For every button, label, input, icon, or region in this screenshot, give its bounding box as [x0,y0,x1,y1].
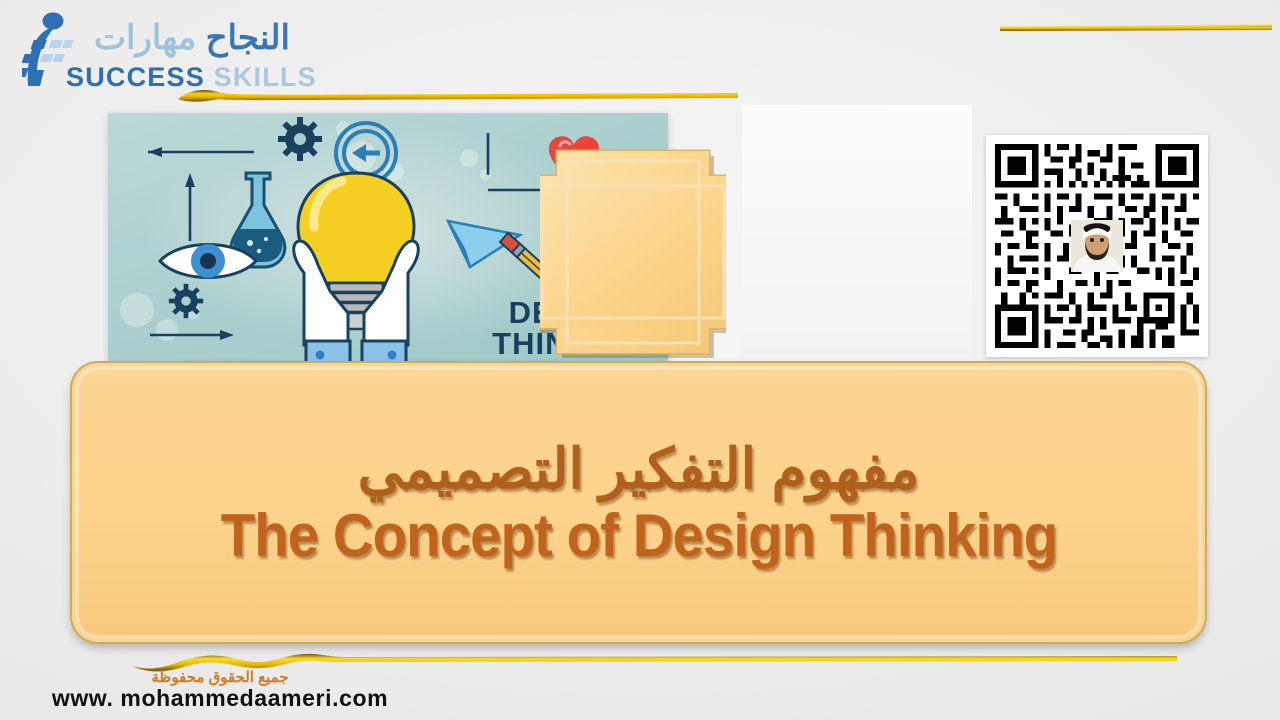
eight-point-star-badge [540,128,726,376]
gold-flourish-top-left-decoration [178,86,738,108]
title-arabic: مفهوم التفكير التصميمي [358,438,920,501]
title-english: The Concept of Design Thinking [220,504,1057,567]
logo-arabic-light: مهارات [94,19,196,57]
website-url[interactable]: www. mohammedaameri.com [0,685,440,712]
gear-icon-top [278,117,322,161]
qr-code[interactable] [986,135,1208,357]
logo-arabic-dark: النجاح [206,19,290,57]
presentation-slide: النجاح مهارات SUCCESS SKILLS [0,0,1280,720]
gold-flourish-top-right-decoration [1000,22,1272,34]
presenter-portrait [742,105,972,365]
qr-center-portrait [1071,220,1123,272]
logo-arabic-text: النجاح مهارات [94,18,290,58]
footer: جميع الحقوق محفوظة www. mohammedaameri.c… [0,668,440,712]
gear-icon-left [169,284,203,318]
copyright-arabic: جميع الحقوق محفوظة [0,668,440,686]
qr-center-photo [1071,220,1123,272]
title-panel: مفهوم التفكير التصميمي The Concept of De… [72,363,1205,642]
